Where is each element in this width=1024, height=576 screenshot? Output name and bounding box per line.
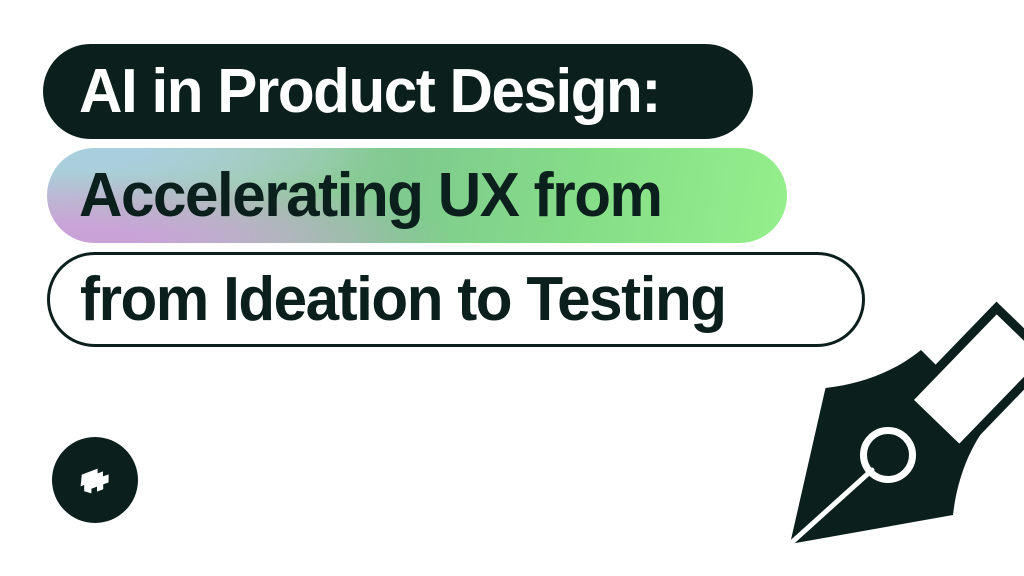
title-line-2-pill: Accelerating UX from bbox=[47, 148, 787, 243]
brand-logo-badge[interactable] bbox=[52, 437, 138, 523]
pen-nib-illustration bbox=[766, 300, 1024, 576]
lightning-bolt-icon bbox=[70, 455, 120, 505]
title-line-1-text: AI in Product Design: bbox=[79, 61, 660, 123]
title-line-3-pill: from Ideation to Testing bbox=[47, 252, 865, 347]
poster-canvas: AI in Product Design: Accelerating UX fr… bbox=[0, 0, 1024, 576]
title-line-2-text: Accelerating UX from bbox=[79, 165, 662, 227]
title-line-3-text: from Ideation to Testing bbox=[80, 269, 726, 331]
title-line-1-pill: AI in Product Design: bbox=[43, 44, 753, 139]
